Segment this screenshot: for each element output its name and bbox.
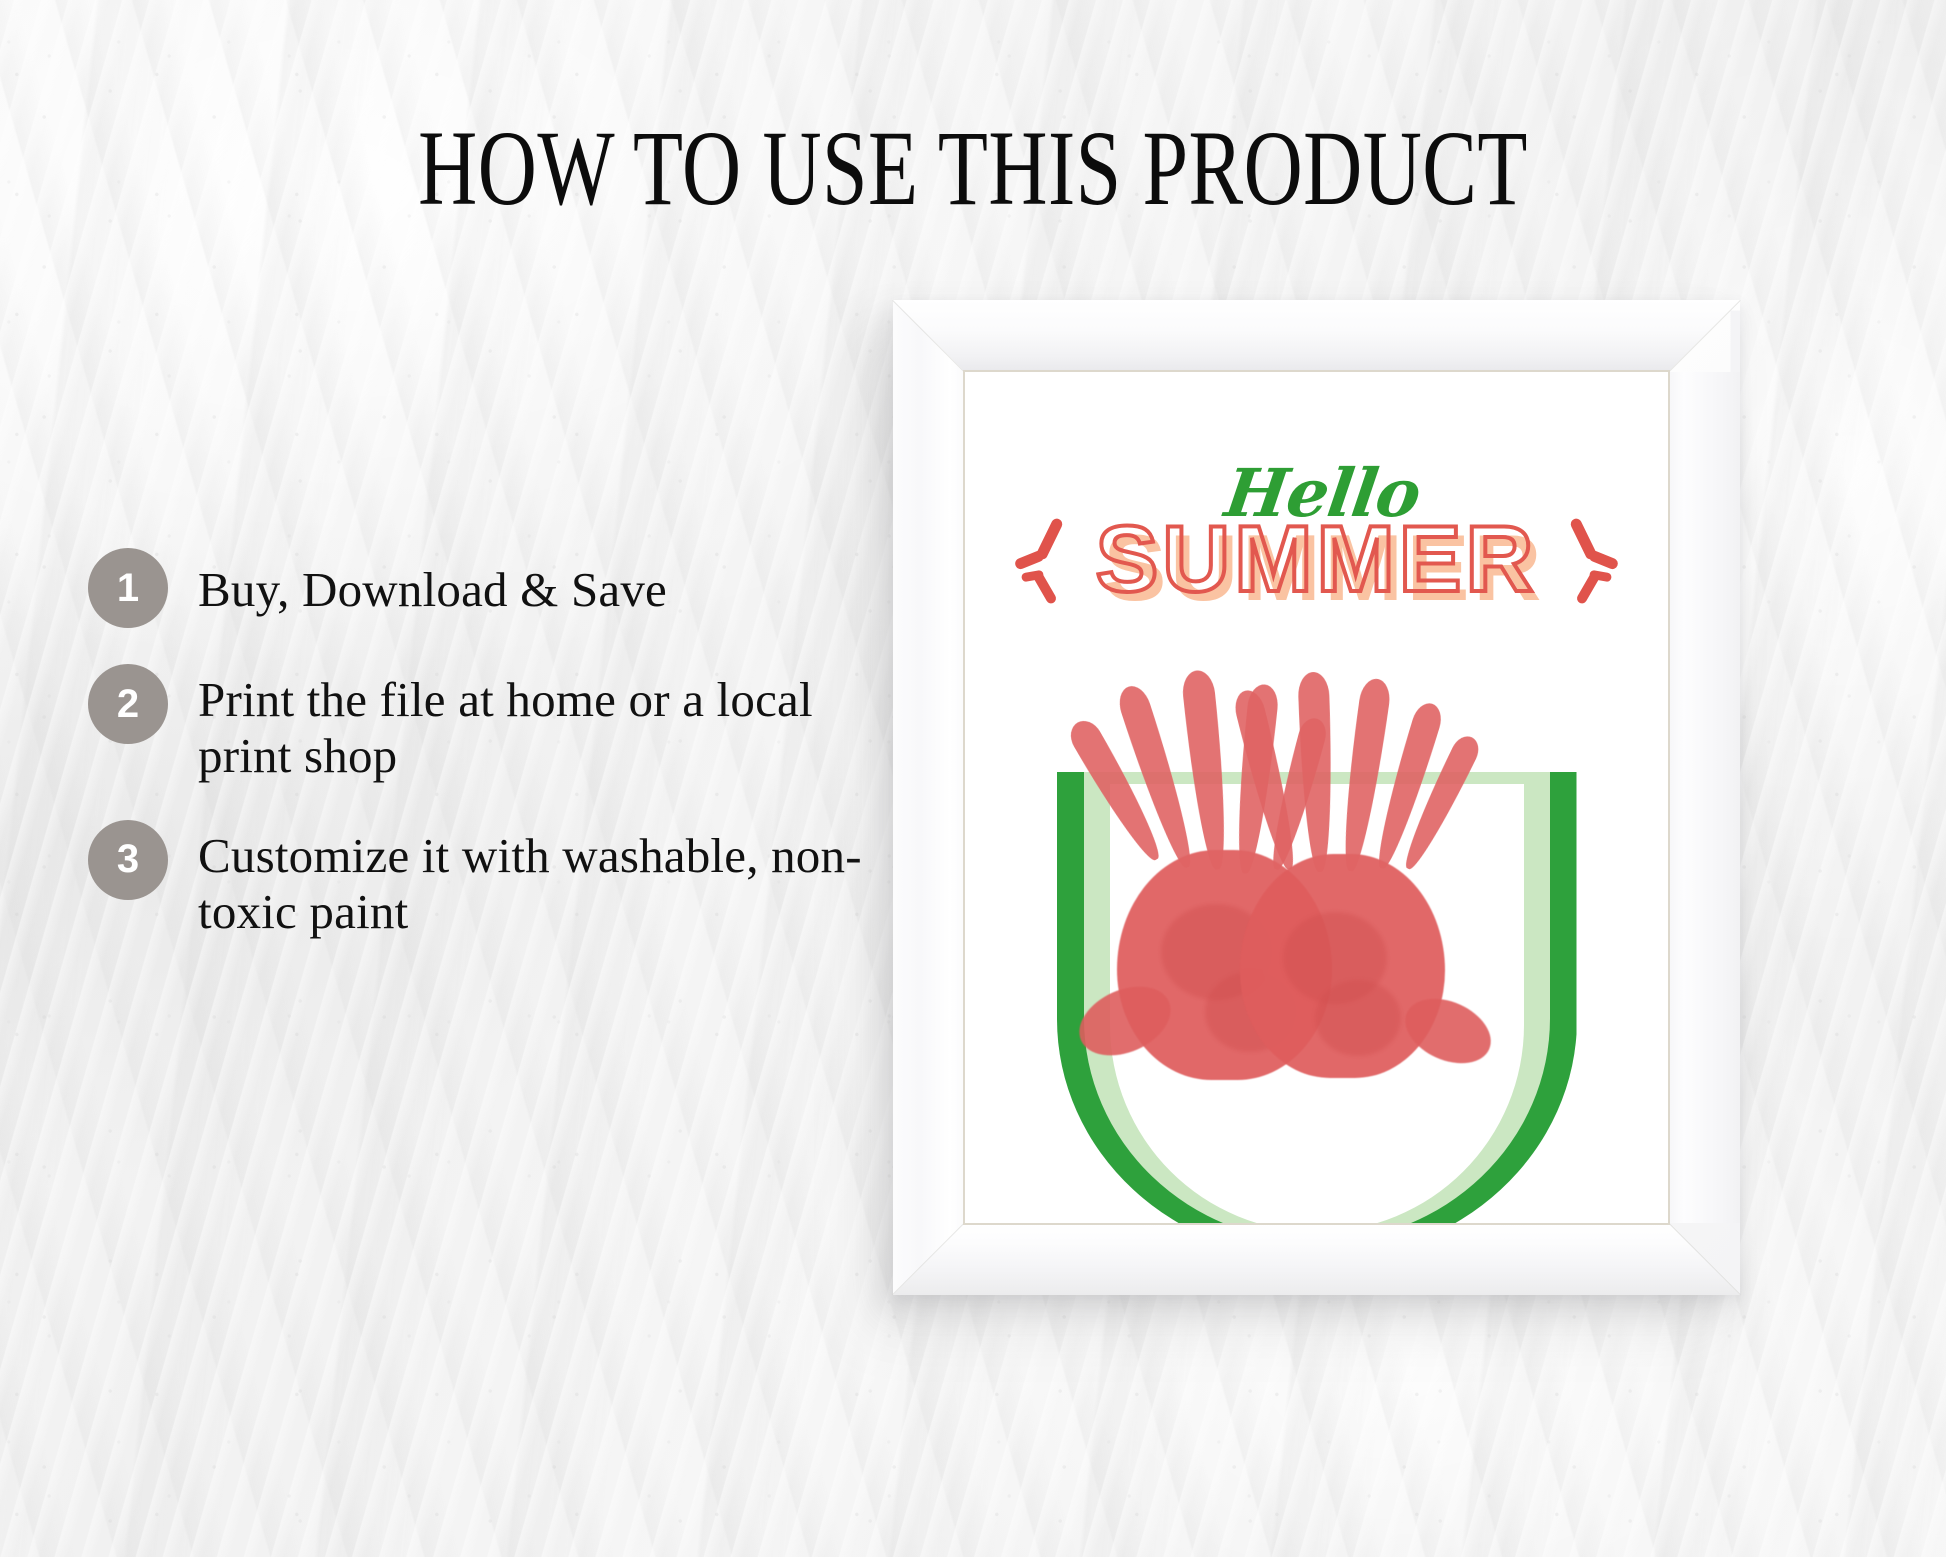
picture-frame: Hello SUMMER [893, 300, 1740, 1295]
watermelon-handprint-artwork [965, 672, 1668, 1223]
summer-row: SUMMER [965, 512, 1668, 606]
step-label: Print the file at home or a local print … [198, 664, 878, 784]
frame-mitre-seam [1668, 1222, 1741, 1295]
step-number-badge: 3 [88, 820, 168, 900]
frame-moulding-top [893, 300, 1740, 372]
frame-mitre-seam [892, 300, 965, 373]
summer-title-lockup: Hello SUMMER [965, 460, 1668, 606]
list-item: 2 Print the file at home or a local prin… [88, 664, 878, 784]
summer-display-text: SUMMER [1096, 512, 1538, 606]
step-number-badge: 1 [88, 548, 168, 628]
frame-mitre-seam [892, 1222, 965, 1295]
sunburst-rays-left-icon [1014, 515, 1076, 603]
step-label: Buy, Download & Save [198, 548, 667, 618]
frame-moulding-left [893, 300, 965, 1295]
frame-mitre-seam [1668, 300, 1741, 373]
step-number-badge: 2 [88, 664, 168, 744]
step-label: Customize it with washable, non-toxic pa… [198, 820, 878, 940]
sunburst-rays-right-icon [1557, 515, 1619, 603]
steps-list: 1 Buy, Download & Save 2 Print the file … [88, 548, 878, 939]
frame-moulding-right [1668, 300, 1740, 1295]
list-item: 3 Customize it with washable, non-toxic … [88, 820, 878, 940]
list-item: 1 Buy, Download & Save [88, 548, 878, 628]
printable-poster: Hello SUMMER [965, 372, 1668, 1223]
page-title: HOW TO USE THIS PRODUCT [68, 116, 1878, 223]
frame-moulding-bottom [893, 1223, 1740, 1295]
